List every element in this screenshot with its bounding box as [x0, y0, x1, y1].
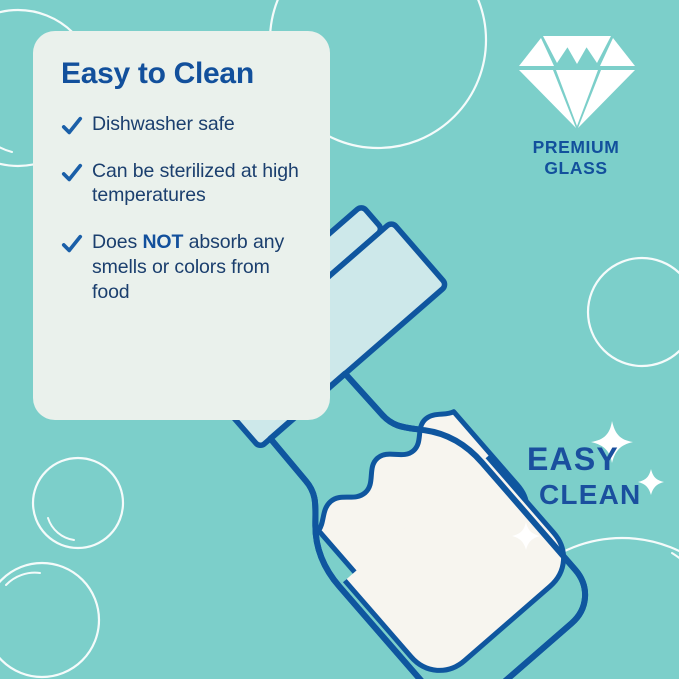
bullet-text-1: Can be sterilized at high temperatures — [92, 160, 299, 207]
list-item: Can be sterilized at high temperatures — [61, 159, 308, 209]
bullet-text-2a: Does — [92, 231, 142, 253]
list-item-label: Can be sterilized at high temperatures — [92, 159, 308, 209]
list-item: Dishwasher safe — [61, 112, 308, 137]
easy-clean-wordmark: EASY CLEAN — [527, 443, 641, 509]
feature-list: Dishwasher safe Can be sterilized at hig… — [61, 112, 308, 305]
list-item-label: Dishwasher safe — [92, 112, 235, 137]
premium-glass-label: PREMIUM GLASS — [492, 137, 660, 178]
features-card: Easy to Clean Dishwasher safe Can be ste… — [33, 31, 330, 420]
premium-line-1: PREMIUM — [492, 137, 660, 158]
check-icon — [61, 162, 83, 184]
sparkle-medium-icon — [512, 522, 540, 550]
promo-image-canvas: Easy to Clean Dishwasher safe Can be ste… — [0, 0, 679, 679]
bullet-emphasis-not: NOT — [142, 231, 183, 253]
bullet-text-0: Dishwasher safe — [92, 113, 235, 135]
sparkle-small-icon — [638, 469, 664, 495]
check-icon — [61, 233, 83, 255]
premium-line-2: GLASS — [492, 158, 660, 179]
list-item-label: Does NOT absorb any smells or colors fro… — [92, 230, 308, 304]
easy-clean-line-2: CLEAN — [539, 481, 641, 509]
easy-clean-line-1: EASY — [527, 443, 641, 475]
premium-glass-badge: PREMIUM GLASS — [492, 34, 660, 178]
check-icon — [61, 115, 83, 137]
diamond-icon — [517, 34, 635, 130]
list-item: Does NOT absorb any smells or colors fro… — [61, 230, 308, 304]
page-title: Easy to Clean — [61, 58, 308, 90]
